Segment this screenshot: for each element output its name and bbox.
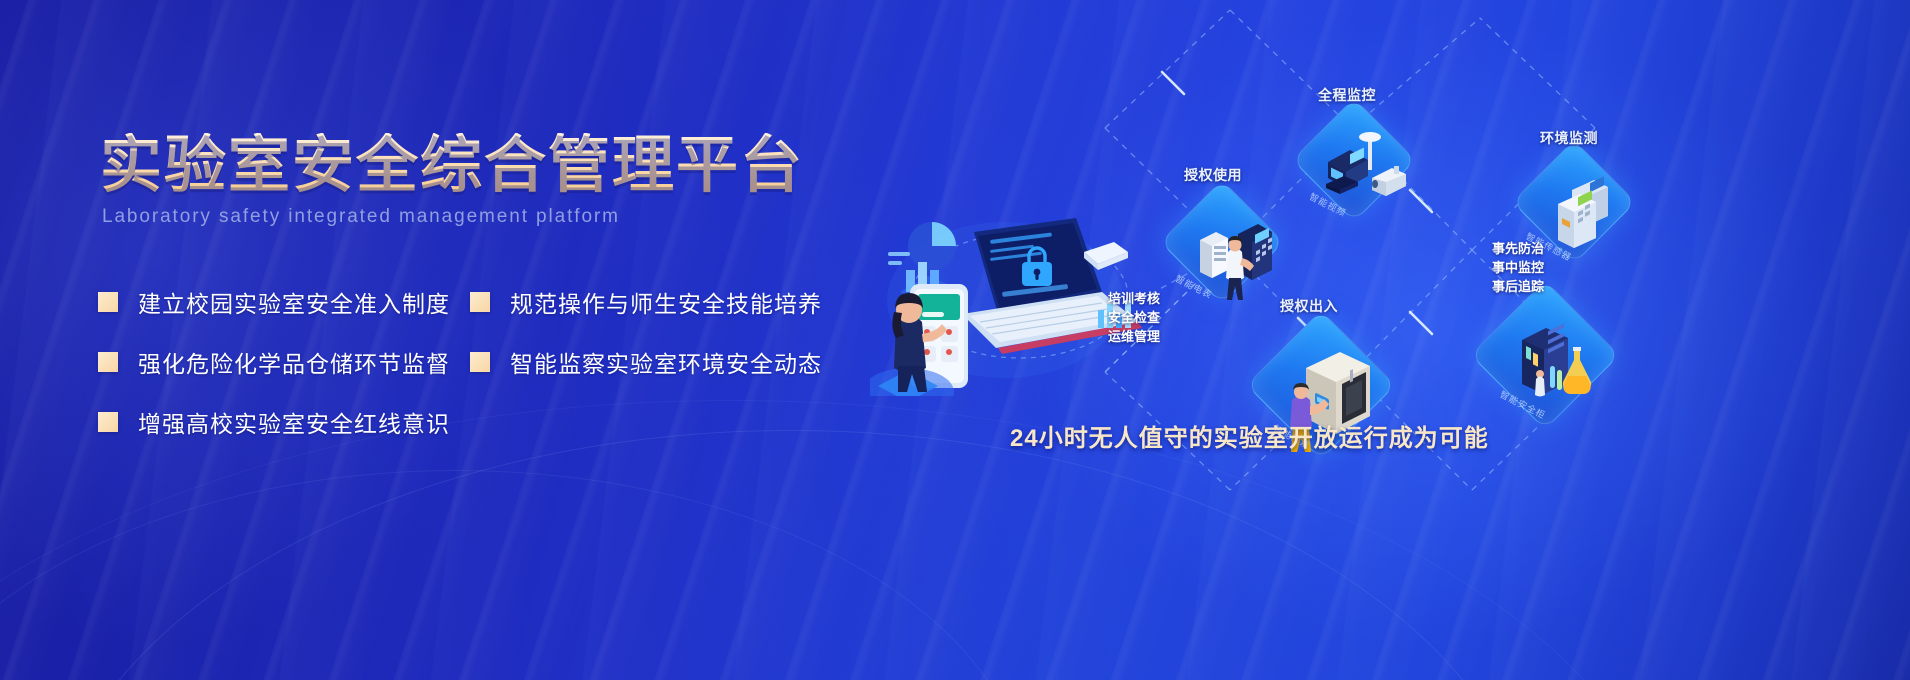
prevention-label-line: 事后追踪	[1492, 278, 1544, 297]
workstation-label: 培训考核 安全检查 运维管理	[1108, 290, 1160, 347]
prevention-label: 事先防治 事中监控 事后追踪	[1492, 240, 1544, 297]
node-label-authorized-entry: 授权出入	[1280, 296, 1338, 316]
node-label-authorized-use: 授权使用	[1184, 165, 1242, 185]
page-title: 实验室安全综合管理平台	[100, 133, 804, 198]
list-item: 增强高校实验室安全红线意识	[98, 392, 470, 452]
node-label-environment-monitor: 环境监测	[1540, 128, 1598, 148]
feature-bullet-list: 建立校园实验室安全准入制度 规范操作与师生安全技能培养 强化危险化学品仓储环节监…	[98, 272, 928, 452]
bullet-label: 智能监察实验室环境安全动态	[510, 345, 822, 379]
list-item: 规范操作与师生安全技能培养	[470, 272, 822, 332]
node-label-full-monitoring: 全程监控	[1318, 85, 1376, 105]
list-item: 智能监察实验室环境安全动态	[470, 332, 822, 392]
square-bullet-icon	[470, 352, 490, 372]
isometric-diagram: 培训考核 安全检查 运维管理	[980, 0, 1910, 680]
prevention-label-line: 事先防治	[1492, 240, 1544, 259]
bullet-row: 增强高校实验室安全红线意识	[98, 392, 928, 452]
workstation-label-line: 运维管理	[1108, 328, 1160, 347]
prevention-label-line: 事中监控	[1492, 259, 1544, 278]
square-bullet-icon	[470, 292, 490, 312]
list-item: 强化危险化学品仓储环节监督	[98, 332, 470, 392]
bullet-row: 建立校园实验室安全准入制度 规范操作与师生安全技能培养	[98, 272, 928, 332]
banner-root: 实验室安全综合管理平台 Laboratory safety integrated…	[0, 0, 1910, 680]
workstation-label-line: 培训考核	[1108, 290, 1160, 309]
square-bullet-icon	[98, 412, 118, 432]
bullet-label: 增强高校实验室安全红线意识	[138, 405, 450, 439]
node-tile	[1292, 98, 1416, 222]
square-bullet-icon	[98, 352, 118, 372]
left-content-panel: 实验室安全综合管理平台 Laboratory safety integrated…	[0, 0, 980, 680]
bullet-label: 建立校园实验室安全准入制度	[138, 285, 450, 319]
page-subtitle: Laboratory safety integrated management …	[102, 206, 620, 228]
bullet-label: 强化危险化学品仓储环节监督	[138, 345, 450, 379]
list-item: 建立校园实验室安全准入制度	[98, 272, 470, 332]
bottom-caption: 24小时无人值守的实验室开放运行成为可能	[1010, 418, 1489, 453]
bullet-label: 规范操作与师生安全技能培养	[510, 285, 822, 319]
workstation-label-line: 安全检查	[1108, 309, 1160, 328]
bullet-row: 强化危险化学品仓储环节监督 智能监察实验室环境安全动态	[98, 332, 928, 392]
square-bullet-icon	[98, 292, 118, 312]
